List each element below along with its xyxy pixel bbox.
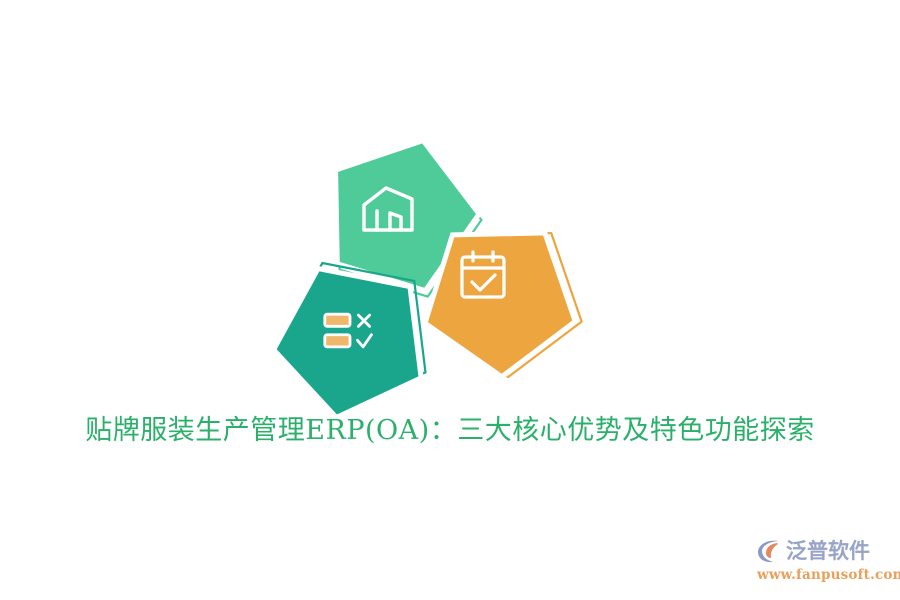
watermark-brand-row: 泛普软件 — [757, 536, 893, 566]
watermark-brand-text: 泛普软件 — [786, 538, 870, 564]
factory-icon — [360, 182, 416, 238]
poster-canvas: 贴牌服装生产管理ERP(OA)：三大核心优势及特色功能探索 泛普软件 www.f… — [0, 0, 900, 600]
watermark-logo: 泛普软件 www.fanpusoft.com — [757, 536, 893, 588]
calendar-check-icon — [455, 247, 511, 303]
pentagon-cluster-graphic — [255, 135, 575, 420]
checklist-icon — [322, 303, 378, 359]
page-title: 贴牌服装生产管理ERP(OA)：三大核心优势及特色功能探索 — [0, 408, 900, 447]
watermark-url-text: www.fanpusoft.com — [757, 567, 893, 583]
fanpu-logo-icon — [757, 538, 783, 564]
